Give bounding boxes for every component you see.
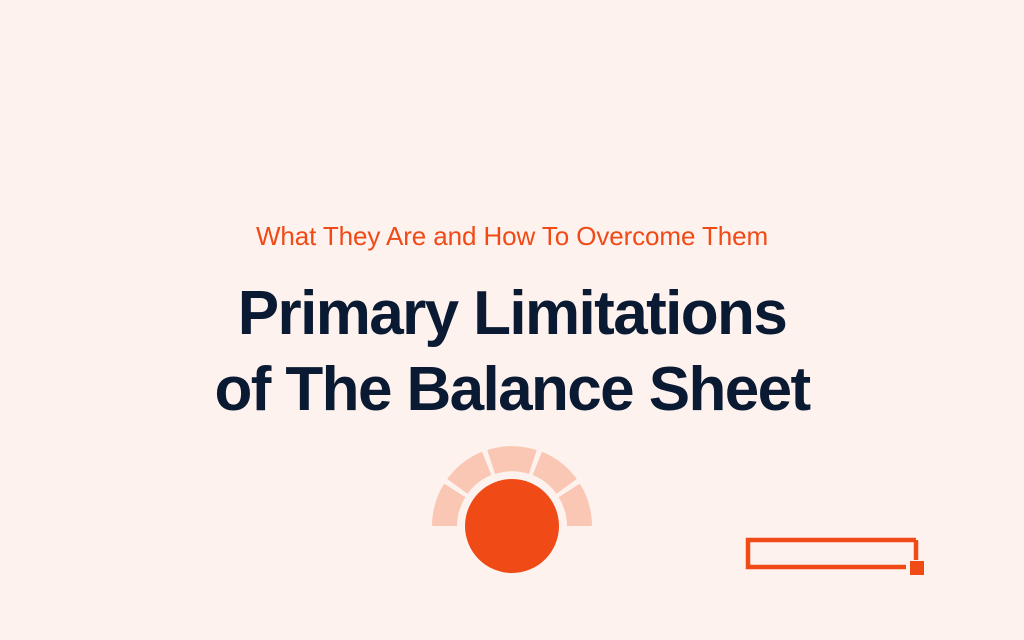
page-title: Primary Limitations of The Balance Sheet [0, 276, 1024, 427]
slide-canvas: What They Are and How To Overcome Them P… [0, 0, 1024, 640]
hero-text-block: What They Are and How To Overcome Them P… [0, 0, 1024, 640]
page-title-line-1: Primary Limitations [0, 276, 1024, 352]
hero-eyebrow: What They Are and How To Overcome Them [0, 222, 1024, 252]
page-title-line-2: of The Balance Sheet [0, 352, 1024, 428]
